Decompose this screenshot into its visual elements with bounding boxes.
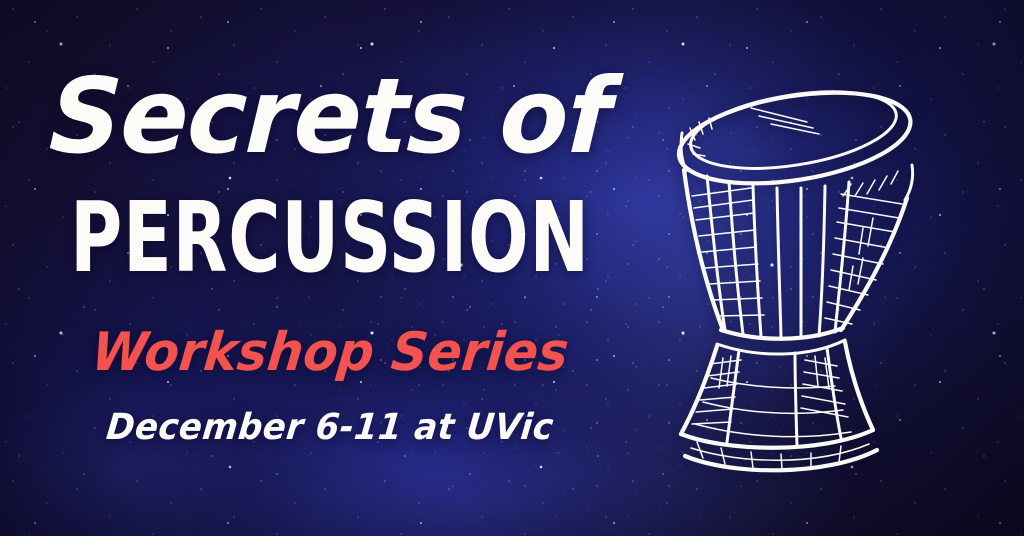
subtitle-workshop-series: Workshop Series bbox=[13, 324, 646, 382]
poster-canvas: Secrets of PERCUSSION Workshop Series De… bbox=[0, 0, 1024, 536]
djembe-drum-icon bbox=[655, 78, 945, 468]
headline-line-2: PERCUSSION bbox=[46, 189, 614, 287]
event-date-location: December 6-11 at UVic bbox=[18, 408, 643, 448]
headline-block: Secrets of PERCUSSION Workshop Series De… bbox=[0, 0, 660, 536]
headline-line-1: Secrets of bbox=[10, 62, 649, 171]
